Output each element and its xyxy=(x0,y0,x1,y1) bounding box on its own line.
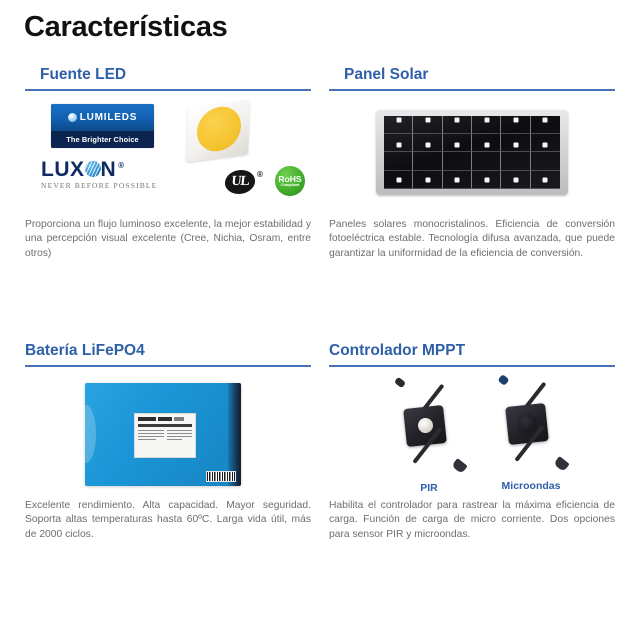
solar-panel-cells xyxy=(384,116,560,189)
lumileds-logo: LUMILEDS The Brighter Choice xyxy=(51,104,154,148)
solar-cell-junction-dot xyxy=(484,118,489,123)
feature-card-fuente-led: Fuente LED LUMILEDS The Brighter Choice xyxy=(25,66,311,262)
luxeon-wordmark-tail: N xyxy=(101,160,117,180)
solar-cell-junction-dot xyxy=(455,178,460,183)
battery-label-block xyxy=(174,417,184,421)
battery-label-column xyxy=(138,430,164,442)
solar-cell xyxy=(413,152,442,170)
card-divider-bateria-lifepo4 xyxy=(25,365,311,367)
battery-label-header xyxy=(138,417,192,421)
battery-label-line xyxy=(138,436,164,437)
luxeon-logo-row: LUX N ® xyxy=(41,160,177,180)
card-title-fuente-led: Fuente LED xyxy=(25,66,311,89)
solar-cell xyxy=(531,152,560,170)
spark-icon xyxy=(68,113,77,122)
battery-label-block xyxy=(138,417,156,421)
card-description-panel-solar: Paneles solares monocristalinos. Eficien… xyxy=(329,218,615,262)
battery-pack-body xyxy=(85,383,241,486)
luxeon-logo: LUX N ® NEVER BEFORE POSSIBLE xyxy=(41,160,177,190)
battery-label-line xyxy=(167,439,182,440)
battery-label-line xyxy=(167,433,193,434)
solar-cell-junction-dot xyxy=(514,118,519,123)
solar-cell xyxy=(472,152,501,170)
card-description-bateria-lifepo4: Excelente rendimiento. Alta capacidad. M… xyxy=(25,499,311,543)
solar-cell xyxy=(443,152,472,170)
sensor-microwave-image: Microondas xyxy=(479,374,583,470)
battery-spec-label xyxy=(134,413,196,458)
globe-icon xyxy=(85,161,101,177)
cable-tip-icon xyxy=(394,376,406,388)
solar-cell-junction-dot xyxy=(426,118,431,123)
sensor-pir-label: PIR xyxy=(377,482,481,494)
sensor-pir-image: PIR xyxy=(377,376,481,472)
luxeon-wordmark-head: LUX xyxy=(41,160,85,180)
ul-icon: UL xyxy=(224,170,257,194)
feature-card-bateria-lifepo4: Batería LiFePO4 xyxy=(25,342,311,543)
cable-tip-icon xyxy=(497,374,509,386)
led-chip-image xyxy=(183,100,255,162)
page-title: Características xyxy=(24,12,227,44)
solar-cell-junction-dot xyxy=(396,143,401,148)
solar-cell-junction-dot xyxy=(514,178,519,183)
card-title-panel-solar: Panel Solar xyxy=(329,66,615,89)
lumileds-logo-top: LUMILEDS xyxy=(51,104,154,131)
lumileds-tagline: The Brighter Choice xyxy=(66,135,139,144)
feature-card-panel-solar: Panel Solar Paneles solares monocristali… xyxy=(329,66,615,262)
solar-cell-junction-dot xyxy=(484,143,489,148)
card-divider-fuente-led xyxy=(25,89,311,91)
solar-cell-junction-dot xyxy=(455,118,460,123)
card-divider-panel-solar xyxy=(329,89,615,91)
barcode-icon xyxy=(206,471,236,482)
solar-cell-junction-dot xyxy=(455,143,460,148)
battery-label-columns xyxy=(138,430,192,442)
solar-panel-image xyxy=(376,110,568,195)
solar-cell xyxy=(384,152,413,170)
rohs-badge-subtitle: Compliant xyxy=(281,183,300,187)
ul-registered-mark: ® xyxy=(257,170,263,179)
card-media-panel-solar xyxy=(329,98,615,218)
feature-card-controlador-mppt: Controlador MPPT PIR xyxy=(329,342,615,543)
card-title-controlador-mppt: Controlador MPPT xyxy=(329,342,615,365)
solar-cell-junction-dot xyxy=(426,143,431,148)
solar-cell-junction-dot xyxy=(543,178,548,183)
cable-connector-icon xyxy=(553,456,569,472)
solar-cell-junction-dot xyxy=(543,143,548,148)
battery-label-column xyxy=(167,430,193,442)
sensor-microwave-label: Microondas xyxy=(479,480,583,492)
sensor-gallery: PIR Microondas xyxy=(329,374,615,499)
ul-certification-mark: UL ® xyxy=(225,170,263,194)
solar-cell-junction-dot xyxy=(514,143,519,148)
rohs-badge: RoHS Compliant xyxy=(275,166,305,196)
battery-highlight xyxy=(85,405,96,463)
battery-label-bar xyxy=(138,424,192,427)
card-media-fuente-led: LUMILEDS The Brighter Choice LUX N ® xyxy=(25,98,311,218)
solar-panel-frame xyxy=(376,110,568,195)
card-description-controlador-mppt: Habilita el controlador para rastrear la… xyxy=(329,499,615,543)
battery-label-line xyxy=(167,436,193,437)
solar-cell-junction-dot xyxy=(396,118,401,123)
lumileds-wordmark: LUMILEDS xyxy=(80,112,138,123)
battery-label-line xyxy=(138,433,164,434)
solar-cell-junction-dot xyxy=(396,178,401,183)
solar-cell xyxy=(501,152,530,170)
battery-label-line xyxy=(138,430,164,431)
card-media-bateria-lifepo4 xyxy=(25,374,311,499)
card-description-fuente-led: Proporciona un flujo luminoso excelente,… xyxy=(25,218,311,262)
battery-label-line xyxy=(167,430,193,431)
battery-label-line xyxy=(138,439,156,440)
solar-cell-junction-dot xyxy=(543,118,548,123)
luxeon-registered-mark: ® xyxy=(118,161,124,170)
luxeon-tagline: NEVER BEFORE POSSIBLE xyxy=(41,181,177,190)
solar-cell-junction-dot xyxy=(426,178,431,183)
card-media-controlador-mppt: PIR Microondas xyxy=(329,374,615,499)
battery-image xyxy=(85,383,241,486)
cable-connector-icon xyxy=(451,458,467,474)
card-title-bateria-lifepo4: Batería LiFePO4 xyxy=(25,342,311,365)
battery-label-block xyxy=(158,417,172,421)
card-divider-controlador-mppt xyxy=(329,365,615,367)
solar-cell-junction-dot xyxy=(484,178,489,183)
lumileds-logo-bottom: The Brighter Choice xyxy=(51,131,154,148)
